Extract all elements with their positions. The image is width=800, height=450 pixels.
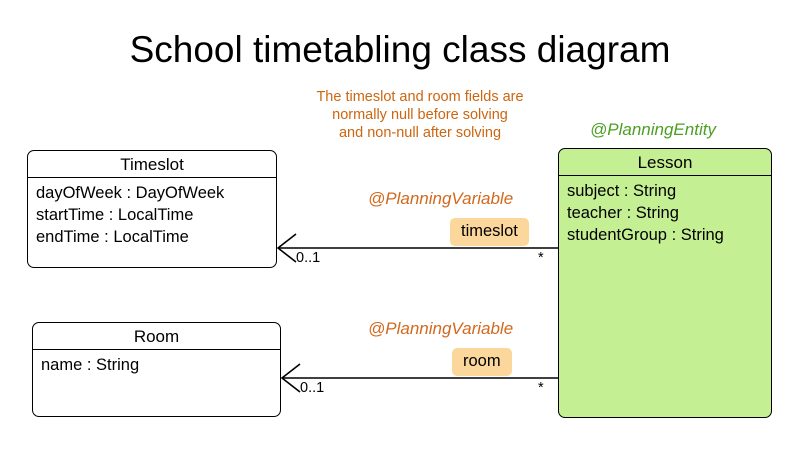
attribute-row: name : String (41, 354, 280, 376)
multiplicity-lesson-end-room: * (538, 380, 544, 397)
class-name-room: Room (33, 323, 280, 349)
uml-class-room[interactable]: Room name : String (32, 322, 281, 417)
attribute-row: dayOfWeek : DayOfWeek (36, 182, 276, 204)
multiplicity-lesson-end-timeslot: * (538, 250, 544, 267)
attribute-list-timeslot: dayOfWeek : DayOfWeek startTime : LocalT… (28, 178, 276, 248)
page-title: School timetabling class diagram (0, 27, 800, 73)
attribute-row: endTime : LocalTime (36, 226, 276, 248)
uml-class-lesson[interactable]: Lesson subject : String teacher : String… (558, 148, 772, 418)
class-name-timeslot: Timeslot (28, 151, 276, 177)
arrowhead-timeslot (278, 234, 296, 262)
class-name-lesson: Lesson (559, 149, 771, 175)
attribute-row: studentGroup : String (567, 224, 771, 246)
stereotype-planning-variable-room: @PlanningVariable (368, 318, 513, 340)
multiplicity-room-end: 0..1 (300, 380, 324, 397)
uml-class-timeslot[interactable]: Timeslot dayOfWeek : DayOfWeek startTime… (27, 150, 277, 268)
attribute-list-room: name : String (33, 350, 280, 376)
role-badge-timeslot: timeslot (450, 218, 529, 246)
class-diagram-canvas: School timetabling class diagram The tim… (0, 0, 800, 450)
stereotype-planning-entity: @PlanningEntity (590, 119, 716, 141)
arrowhead-room (282, 364, 300, 392)
stereotype-planning-variable-timeslot: @PlanningVariable (368, 188, 513, 210)
attribute-row: subject : String (567, 180, 771, 202)
diagram-note: The timeslot and room fields are normall… (270, 88, 570, 142)
multiplicity-timeslot-end: 0..1 (296, 250, 320, 267)
attribute-row: startTime : LocalTime (36, 204, 276, 226)
note-line-3: and non-null after solving (270, 124, 570, 142)
note-line-1: The timeslot and room fields are (270, 88, 570, 106)
note-line-2: normally null before solving (270, 106, 570, 124)
role-badge-room: room (452, 348, 512, 376)
attribute-row: teacher : String (567, 202, 771, 224)
attribute-list-lesson: subject : String teacher : String studen… (559, 176, 771, 246)
